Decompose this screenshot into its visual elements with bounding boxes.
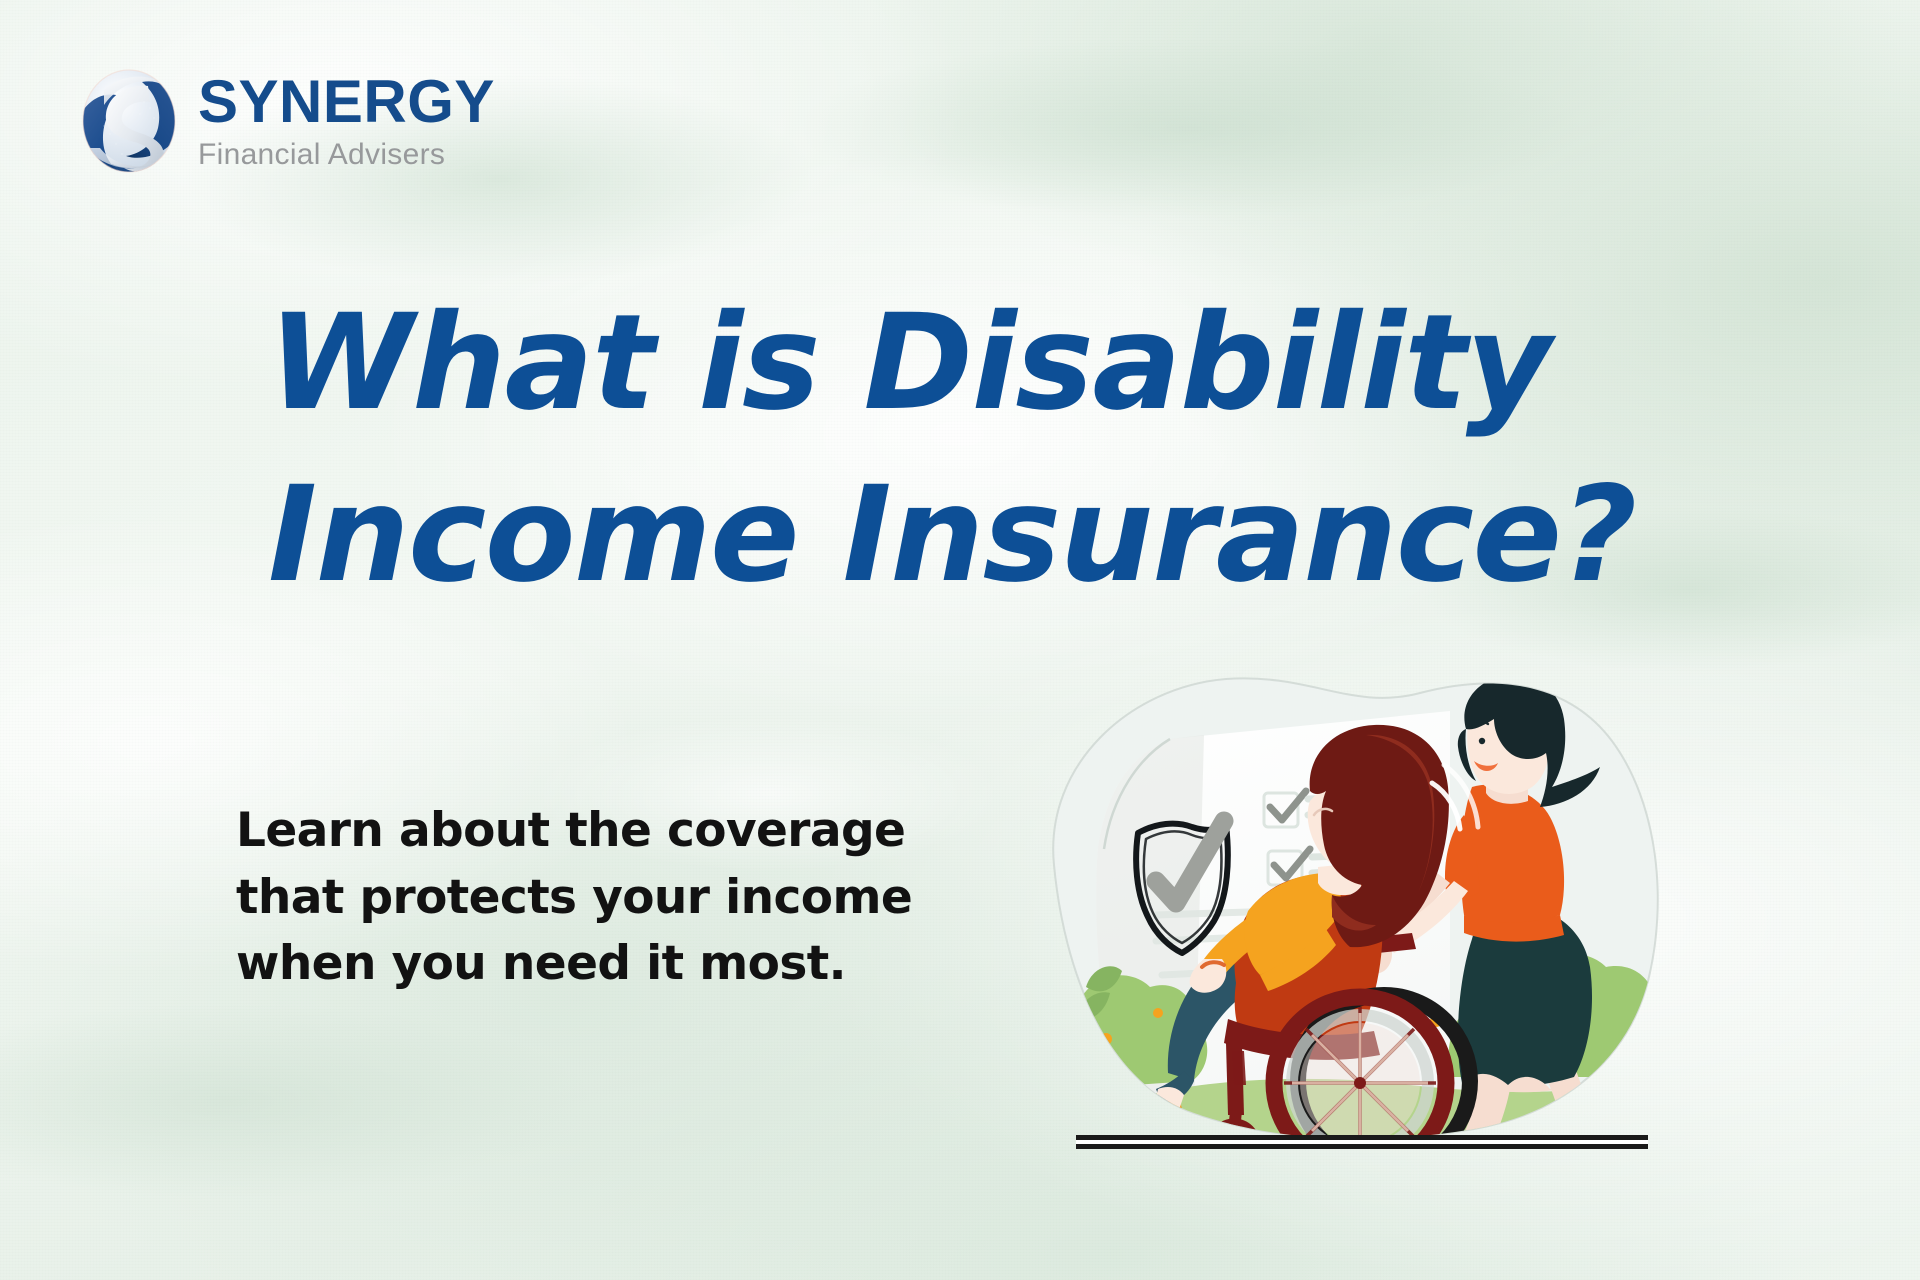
brand-tagline: Financial Advisers bbox=[198, 140, 495, 170]
subheading-line-1: Learn about the coverage bbox=[236, 798, 896, 865]
ground-line bbox=[1076, 1135, 1648, 1149]
poster-canvas: SYNERGY Financial Advisers What is Disab… bbox=[0, 0, 1920, 1280]
illustration-svg bbox=[980, 615, 1750, 1180]
synergy-globe-icon bbox=[74, 62, 184, 180]
brand-wordmark: SYNERGY Financial Advisers bbox=[198, 72, 495, 170]
subheading-line-3: when you need it most. bbox=[236, 931, 896, 998]
wheelchair-caregiver-illustration bbox=[980, 615, 1750, 1180]
page-title: What is Disability Income Insurance? bbox=[268, 278, 1448, 621]
brand-logo[interactable]: SYNERGY Financial Advisers bbox=[74, 62, 495, 180]
headline-line-2: Income Insurance? bbox=[268, 450, 1448, 622]
subheading-line-2: that protects your income bbox=[236, 865, 896, 932]
subheading: Learn about the coverage that protects y… bbox=[236, 798, 896, 998]
headline-line-1: What is Disability bbox=[268, 278, 1448, 450]
brand-name: SYNERGY bbox=[198, 72, 495, 132]
